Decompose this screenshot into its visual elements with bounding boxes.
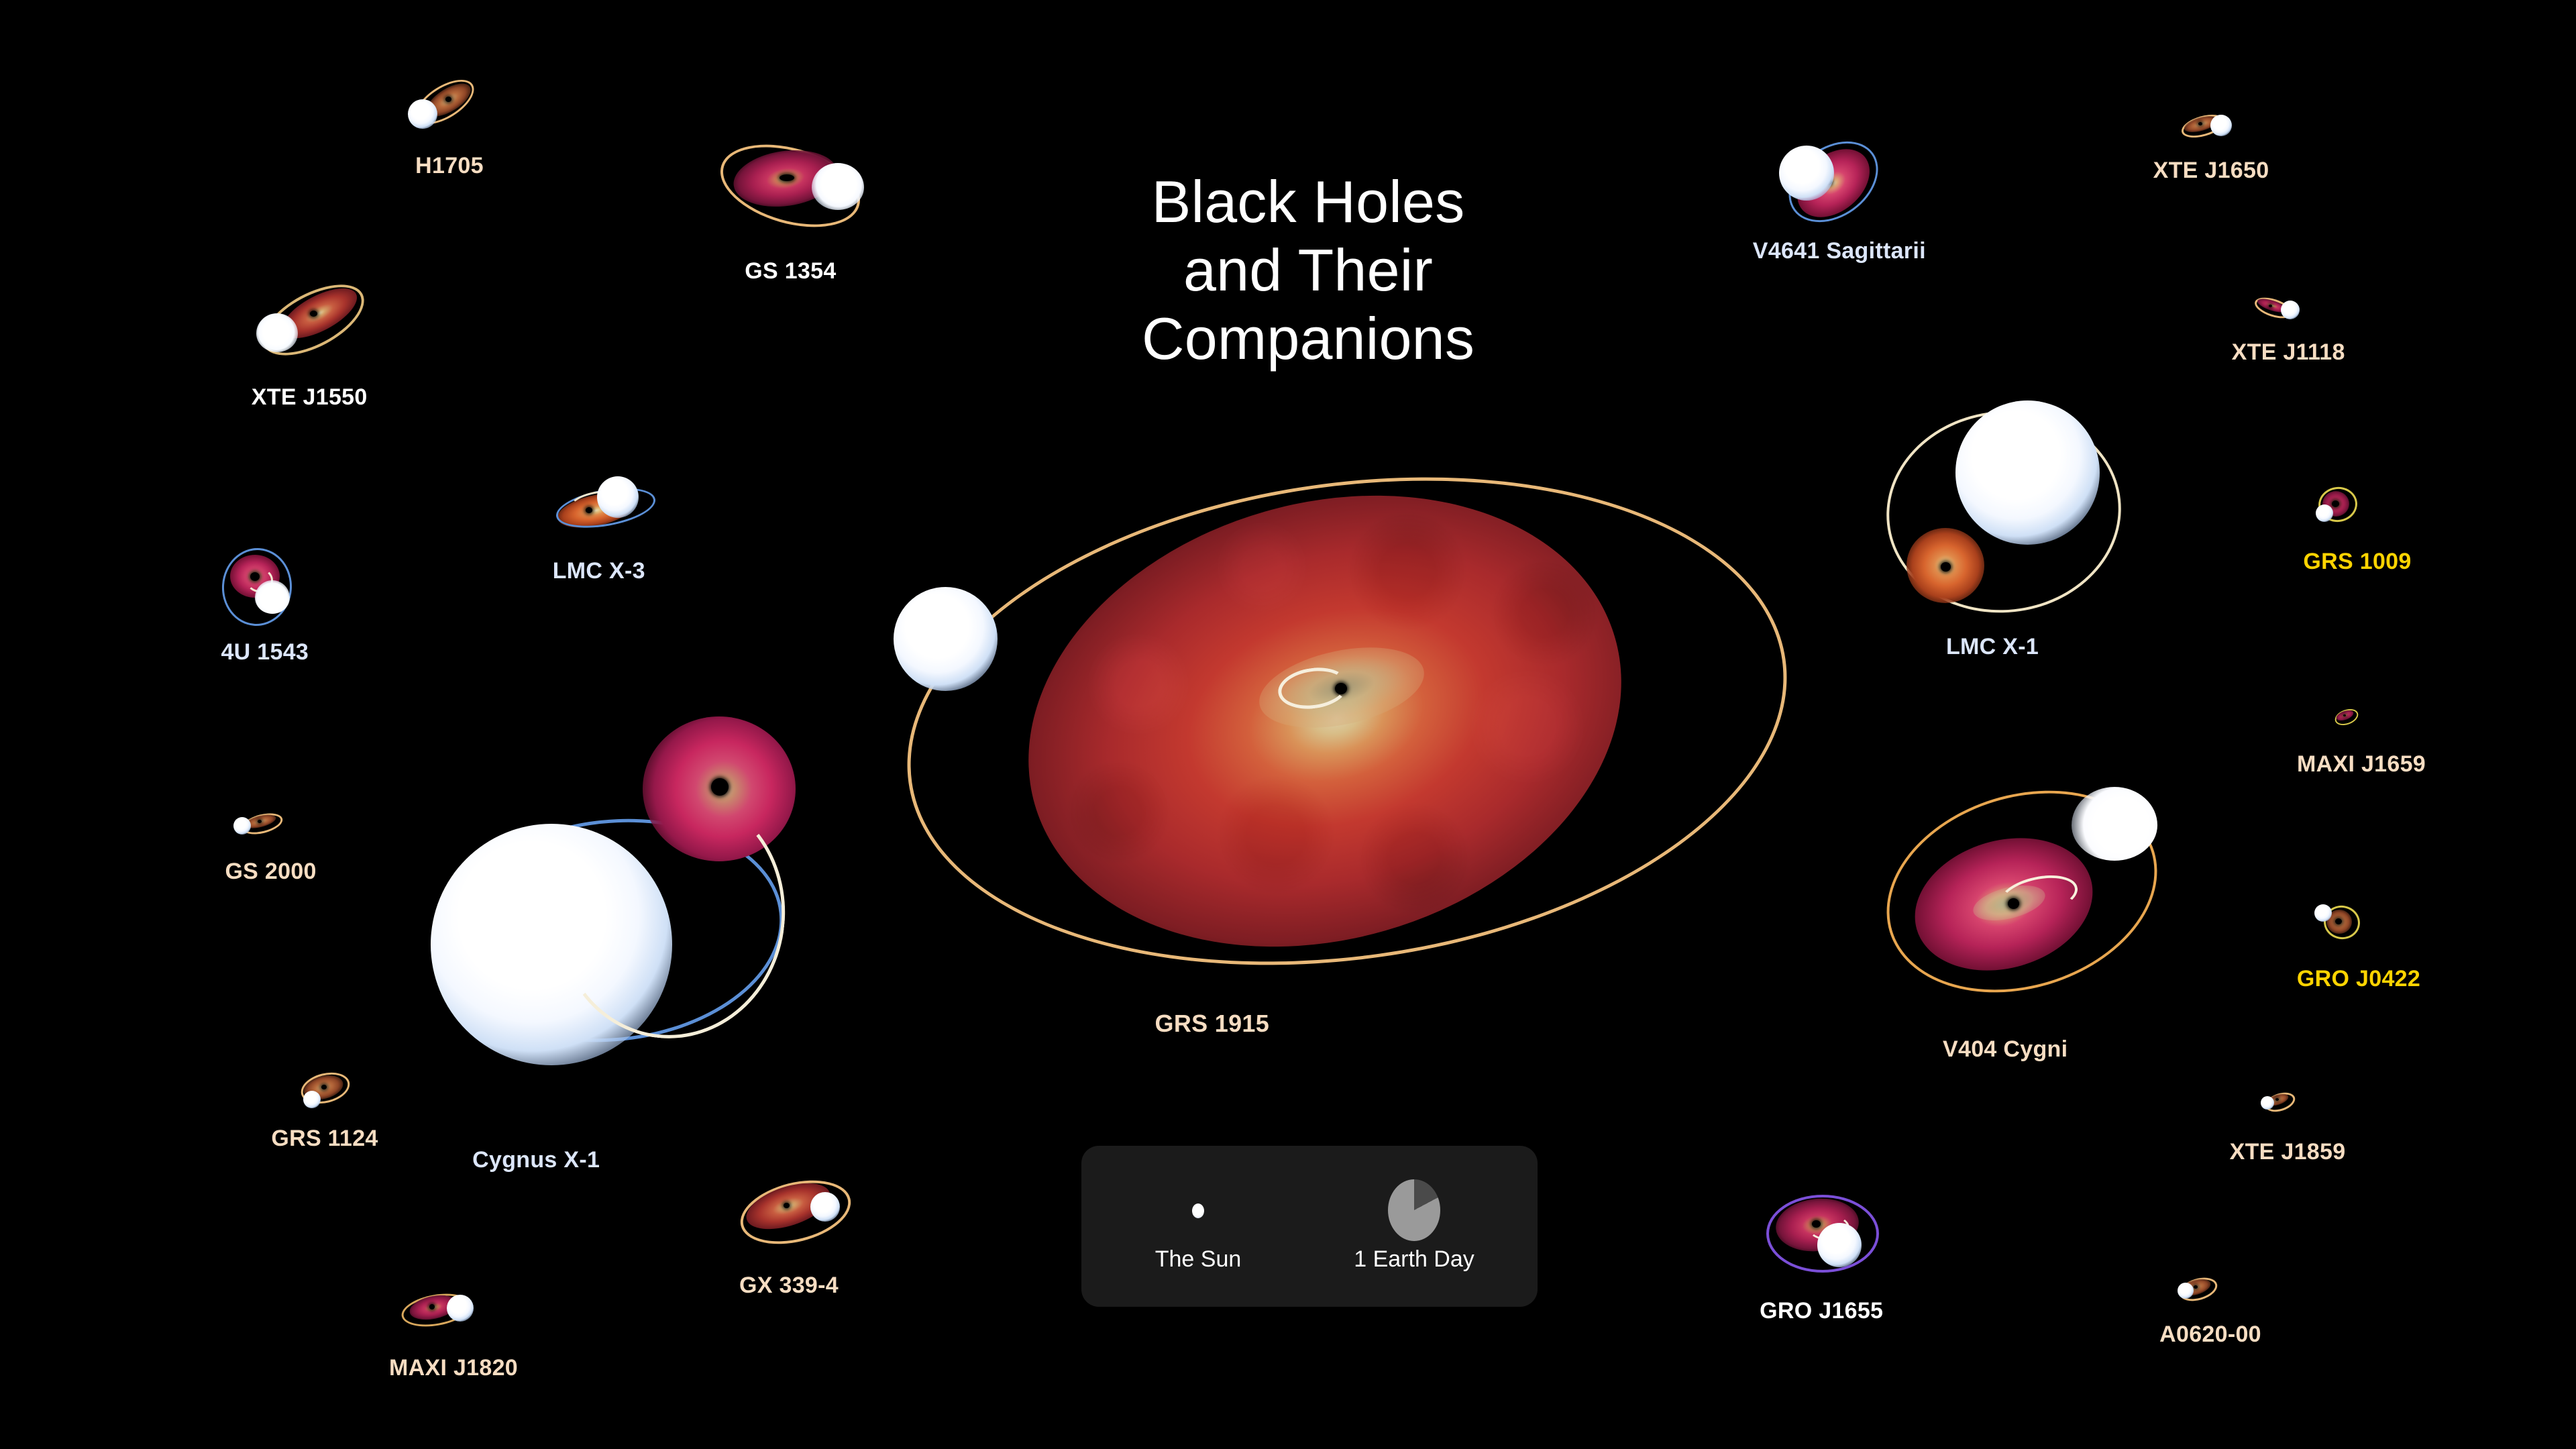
4u-1543-black-hole [250, 572, 260, 581]
h1705-label: H1705 [415, 153, 484, 179]
system-gs-1354[interactable]: GS 1354 [714, 144, 896, 278]
system-v404-cygni[interactable]: V404 Cygni [1878, 775, 2173, 1057]
system-a0620-00[interactable]: A0620-00 [2140, 1254, 2281, 1362]
maxi-j1659-label: MAXI J1659 [2297, 751, 2426, 777]
lmc-x-3-black-hole [586, 507, 592, 513]
xte-j1550-label: XTE J1550 [252, 384, 368, 411]
gx-339-4-black-hole [784, 1203, 790, 1208]
system-gs-2000[interactable]: GS 2000 [215, 798, 342, 885]
a0620-00-companion-star [2178, 1283, 2194, 1299]
system-gro-j0422[interactable]: GRO J0422 [2294, 892, 2428, 1000]
h1705-art [396, 74, 503, 161]
gx-339-4-label: GX 339-4 [739, 1273, 839, 1299]
cygnus-x-1-black-hole [711, 778, 729, 796]
v404-cygni-art [1878, 775, 2173, 1057]
grs-1124-black-hole [321, 1085, 327, 1089]
xte-j1859-black-hole [2275, 1098, 2279, 1101]
h1705-black-hole [445, 97, 451, 102]
gs-2000-label: GS 2000 [225, 859, 316, 885]
xte-j1650-label: XTE J1650 [2153, 158, 2269, 184]
xte-j1650-black-hole [2198, 122, 2202, 125]
xte-j1118-companion-star [2281, 301, 2300, 319]
system-maxi-j1659[interactable]: MAXI J1659 [2294, 684, 2428, 771]
grs-1124-label: GRS 1124 [271, 1126, 378, 1152]
system-gro-j1655[interactable]: GRO J1655 [1748, 1184, 1942, 1325]
lmc-x-1-companion-star [1955, 400, 2100, 545]
title-line-2: and Their Companions [1033, 236, 1583, 373]
legend-one-earth-day-label: 1 Earth Day [1313, 1246, 1515, 1273]
gro-j1655-label: GRO J1655 [1760, 1298, 1883, 1324]
system-v4641-sagittarii[interactable]: V4641 Sagittarii [1758, 138, 1952, 278]
sun-dot-icon [1192, 1203, 1204, 1218]
grs-1915-companion-star [894, 587, 998, 691]
maxi-j1820-black-hole [429, 1304, 435, 1309]
system-xte-j1859[interactable]: XTE J1859 [2220, 1067, 2355, 1167]
lmc-x-3-label: LMC X-3 [553, 558, 645, 584]
cygnus-x-1-art [416, 704, 845, 1174]
grs-1009-label: GRS 1009 [2303, 549, 2411, 575]
legend-item-one-earth-day: 1 Earth Day [1313, 1146, 1515, 1307]
h1705-companion-star [408, 99, 437, 129]
lmc-x-3-companion-star [597, 476, 639, 518]
lmc-x-1-art [1872, 399, 2140, 721]
gro-j1655-companion-star [1817, 1223, 1862, 1267]
xte-j1118-label: XTE J1118 [2232, 339, 2345, 366]
maxi-j1820-label: MAXI J1820 [389, 1355, 518, 1381]
legend-item-the-sun: The Sun [1097, 1146, 1299, 1307]
gs-2000-companion-star [233, 817, 251, 835]
grs-1009-black-hole [2332, 500, 2339, 507]
legend-the-sun-label: The Sun [1097, 1246, 1299, 1273]
xte-j1859-companion-star [2261, 1096, 2274, 1110]
gx-339-4-companion-star [810, 1192, 840, 1222]
xte-j1550-companion-star [256, 313, 298, 352]
system-lmc-x-3[interactable]: LMC X-3 [543, 470, 698, 590]
day-pie-icon [1388, 1179, 1440, 1241]
gro-j0422-label: GRO J0422 [2297, 966, 2420, 992]
v404-cygni-companion-star [2072, 787, 2157, 861]
title-line-1: Black Holes [1152, 168, 1465, 235]
infographic-canvas: Black Holes and Their Companions H1705 G… [0, 0, 2576, 1449]
system-gx-339-4[interactable]: GX 339-4 [724, 1177, 885, 1305]
v4641-sagittarii-label: V4641 Sagittarii [1753, 238, 1926, 264]
a0620-00-black-hole [2194, 1285, 2198, 1289]
xte-j1118-black-hole [2269, 305, 2272, 307]
system-maxi-j1820[interactable]: MAXI J1820 [389, 1268, 550, 1382]
gs-1354-companion-star [812, 163, 864, 210]
system-xte-j1650[interactable]: XTE J1650 [2157, 104, 2277, 191]
system-grs-1009[interactable]: GRS 1009 [2294, 476, 2428, 584]
v404-cygni-label: V404 Cygni [1943, 1036, 2068, 1063]
grs-1009-companion-star [2316, 504, 2333, 522]
system-cygnus-x-1[interactable]: Cygnus X-1 [416, 704, 845, 1174]
gs-1354-label: GS 1354 [745, 258, 836, 284]
lmc-x-1-black-hole [1941, 562, 1951, 572]
system-4u-1543[interactable]: 4U 1543 [211, 540, 352, 667]
cygnus-x-1-label: Cygnus X-1 [472, 1147, 600, 1173]
system-lmc-x-1[interactable]: LMC X-1 [1872, 399, 2140, 721]
page-title: Black Holes and Their Companions [1033, 168, 1583, 373]
gs-2000-black-hole [258, 820, 262, 823]
system-grs-1915[interactable]: GRS 1915 [879, 470, 1805, 1067]
gro-j0422-companion-star [2314, 904, 2332, 922]
4u-1543-label: 4U 1543 [221, 639, 309, 665]
system-grs-1124[interactable]: GRS 1124 [268, 1046, 402, 1154]
lmc-x-1-label: LMC X-1 [1946, 634, 2039, 660]
4u-1543-companion-star [255, 580, 290, 614]
gro-j0422-black-hole [2335, 918, 2342, 924]
system-h1705[interactable]: H1705 [396, 74, 503, 161]
gs-1354-black-hole [780, 174, 794, 181]
legend-panel: The Sun 1 Earth Day [1081, 1146, 1538, 1307]
grs-1124-companion-star [303, 1091, 321, 1108]
system-xte-j1118[interactable]: XTE J1118 [2227, 282, 2355, 369]
maxi-j1659-black-hole [2343, 714, 2346, 716]
grs-1915-label: GRS 1915 [1155, 1010, 1270, 1038]
v4641-sagittarii-companion-star [1779, 146, 1834, 201]
xte-j1859-label: XTE J1859 [2230, 1139, 2346, 1165]
xte-j1550-black-hole [310, 311, 317, 317]
grs-1915-art [879, 470, 1805, 1067]
maxi-j1820-companion-star [447, 1295, 474, 1322]
xte-j1650-companion-star [2210, 115, 2232, 136]
a0620-00-label: A0620-00 [2159, 1322, 2261, 1348]
system-xte-j1550[interactable]: XTE J1550 [248, 285, 409, 413]
